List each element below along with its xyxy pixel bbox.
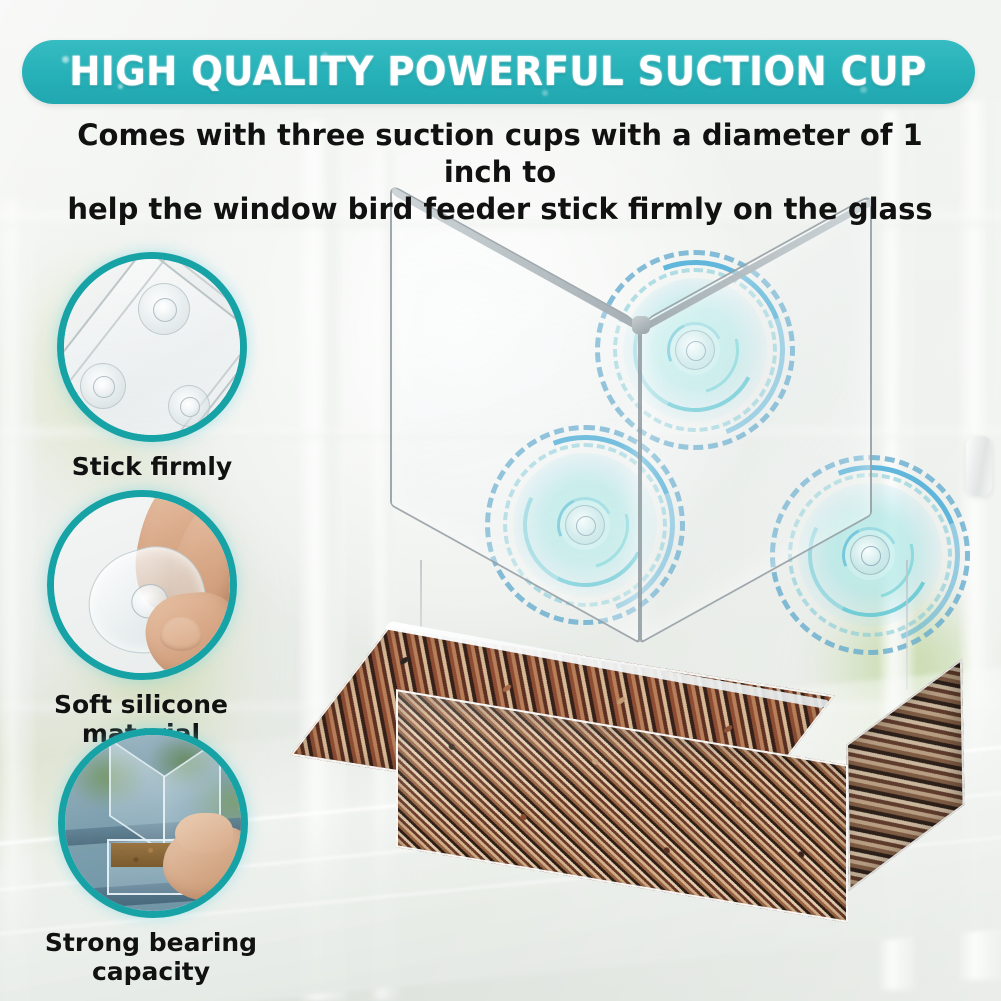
fingers [175,813,233,853]
suction-cup [80,363,126,409]
window-handle [966,436,992,496]
subtitle-text: Comes with three suction cups with a dia… [50,117,950,228]
feature-photo [54,497,230,673]
feature-caption: Stick firmly [57,452,247,481]
feature-image-circle [58,728,248,918]
suction-cup [168,385,210,427]
feature-soft-silicone-material: Soft silicone material [47,490,251,748]
feature-strong-bearing-capacity: Strong bearing capacity [58,728,276,986]
subtitle-line-2: help the window bird feeder stick firmly… [50,191,950,228]
feature-photo [64,259,240,435]
subtitle-line-1: Comes with three suction cups with a dia… [50,117,950,191]
feature-stick-firmly: Stick firmly [57,252,247,481]
feature-image-circle [57,252,247,442]
header-banner: HIGH QUALITY POWERFUL SUCTION CUP [22,40,975,104]
banner-title: HIGH QUALITY POWERFUL SUCTION CUP [70,49,927,95]
sparkle [62,56,69,63]
thumbnail [160,617,202,651]
feature-photo [65,735,241,911]
suction-cup [138,283,190,335]
feature-caption: Strong bearing capacity [26,928,276,986]
feature-image-circle [47,490,237,680]
